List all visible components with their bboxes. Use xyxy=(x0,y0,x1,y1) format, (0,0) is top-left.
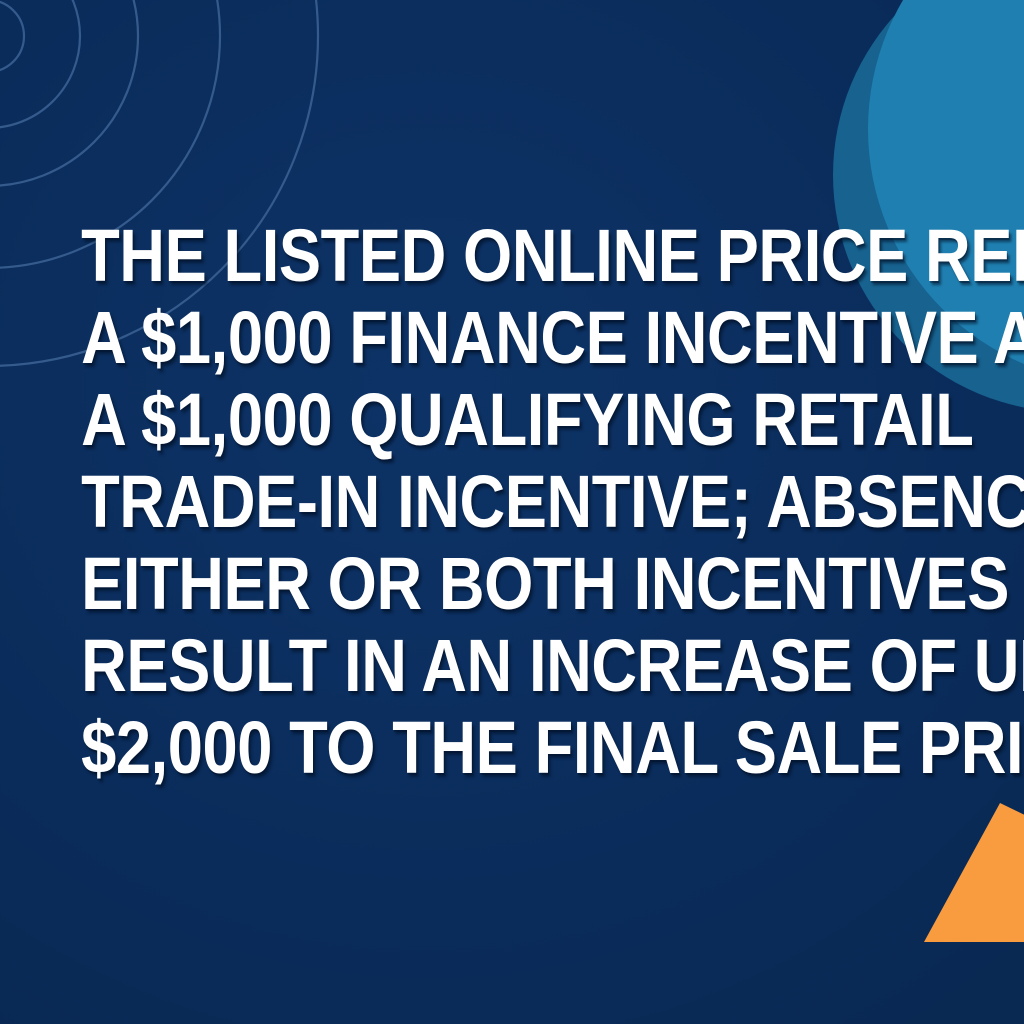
disclaimer-line-3: A $1,000 QUALIFYING RETAIL xyxy=(81,379,943,461)
disclaimer-line-1: THE LISTED ONLINE PRICE REFLECTS xyxy=(81,215,943,297)
disclaimer-line-2: A $1,000 FINANCE INCENTIVE AND xyxy=(81,297,943,379)
promo-disclaimer-graphic: THE LISTED ONLINE PRICE REFLECTS A $1,00… xyxy=(0,0,1024,1024)
disclaimer-text: THE LISTED ONLINE PRICE REFLECTS A $1,00… xyxy=(74,215,950,789)
disclaimer-line-7: $2,000 TO THE FINAL SALE PRICE. xyxy=(81,707,943,789)
disclaimer-line-5: EITHER OR BOTH INCENTIVES WILL xyxy=(81,543,943,625)
orange-triangle-decoration xyxy=(917,803,1024,942)
disclaimer-line-6: RESULT IN AN INCREASE OF UP TO xyxy=(81,625,943,707)
disclaimer-line-4: TRADE-IN INCENTIVE; ABSENCE OF xyxy=(81,461,943,543)
